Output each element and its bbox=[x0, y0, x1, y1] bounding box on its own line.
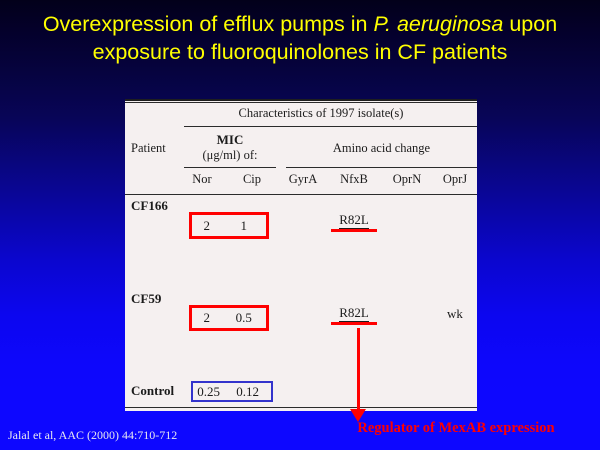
citation-text: Jalal et al, AAC (2000) 44:710-712 bbox=[8, 428, 177, 443]
table-row-label-cf166: CF166 bbox=[131, 198, 168, 214]
column-header-mic: MIC (μg/ml) of: bbox=[184, 132, 276, 163]
callout-arrow-shaft-icon bbox=[357, 328, 360, 413]
slide-title: Overexpression of efflux pumps in P. aer… bbox=[14, 10, 586, 66]
table-row-label-cf59: CF59 bbox=[131, 291, 161, 307]
callout-annotation-text: Regulator of MexAB expression bbox=[316, 420, 596, 437]
mic-highlight-box-cf166: 2 1 bbox=[189, 212, 269, 239]
column-header-gyra: GyrA bbox=[280, 172, 326, 187]
column-header-patient: Patient bbox=[131, 141, 166, 156]
table-spanner-header: Characteristics of 1997 isolate(s) bbox=[125, 106, 477, 121]
isolate-characteristics-table: Characteristics of 1997 isolate(s) Patie… bbox=[125, 99, 477, 411]
table-bottom-rule bbox=[125, 407, 477, 408]
mic-units-label: (μg/ml) of: bbox=[203, 148, 258, 162]
spanner-header-rule bbox=[184, 126, 477, 127]
cell-nor-cf59: 2 bbox=[192, 310, 222, 326]
mic-highlight-box-control: 0.25 0.12 bbox=[191, 381, 273, 402]
slide-canvas: Overexpression of efflux pumps in P. aer… bbox=[0, 0, 600, 450]
cell-nor-control: 0.25 bbox=[193, 384, 224, 400]
column-header-nfxb: NfxB bbox=[331, 172, 377, 187]
mic-highlight-box-cf59: 2 0.5 bbox=[189, 305, 269, 331]
mic-label: MIC bbox=[217, 132, 244, 147]
cell-nfxb-cf166: R82L bbox=[331, 212, 377, 232]
cell-nor-cf166: 2 bbox=[192, 218, 222, 234]
title-line1-post: upon bbox=[503, 12, 557, 36]
cell-cip-cf166: 1 bbox=[222, 218, 266, 234]
mic-group-rule bbox=[184, 167, 276, 168]
column-header-nor: Nor bbox=[180, 172, 224, 187]
cell-nfxb-cf166-text: R82L bbox=[339, 212, 369, 229]
table-top-rule bbox=[125, 99, 477, 101]
column-header-oprn: OprN bbox=[383, 172, 431, 187]
table-top-rule-secondary bbox=[125, 102, 477, 103]
column-header-cip: Cip bbox=[230, 172, 274, 187]
table-row-label-control: Control bbox=[131, 383, 174, 399]
cell-oprj-cf59: wk bbox=[433, 306, 477, 322]
title-line2: exposure to fluoroquinolones in CF patie… bbox=[93, 40, 508, 64]
title-species-italic: P. aeruginosa bbox=[373, 12, 503, 36]
title-line1-pre: Overexpression of efflux pumps in bbox=[43, 12, 374, 36]
cell-cip-control: 0.12 bbox=[224, 384, 271, 400]
cell-nfxb-cf59-text: R82L bbox=[339, 305, 369, 322]
column-header-rule bbox=[125, 194, 477, 195]
column-header-amino-acid-change: Amino acid change bbox=[286, 141, 477, 156]
amino-acid-group-rule bbox=[286, 167, 477, 168]
cell-nfxb-cf59: R82L bbox=[331, 305, 377, 325]
column-header-oprj: OprJ bbox=[433, 172, 477, 187]
nfxb-red-underline-cf166 bbox=[331, 229, 377, 232]
nfxb-red-underline-cf59 bbox=[331, 322, 377, 325]
cell-cip-cf59: 0.5 bbox=[222, 310, 266, 326]
